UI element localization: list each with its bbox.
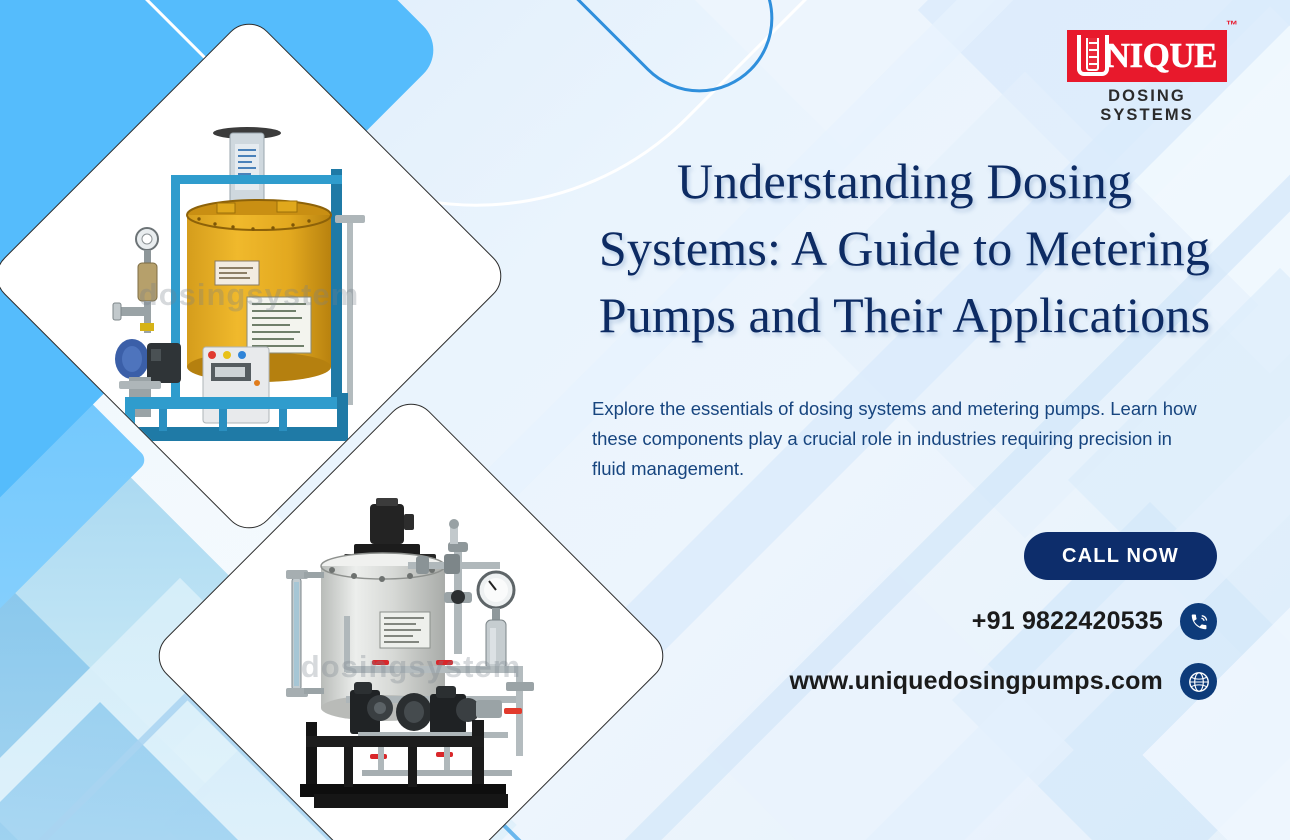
logo-u-beaker-icon xyxy=(1077,35,1109,76)
content-column: Understanding Dosing Systems: A Guide to… xyxy=(592,148,1217,700)
call-now-button[interactable]: CALL NOW xyxy=(1024,532,1217,580)
website-row[interactable]: www.uniquedosingpumps.com xyxy=(592,663,1217,700)
stainless-dosing-skid-illustration xyxy=(258,496,564,816)
globe-icon[interactable] xyxy=(1180,663,1217,700)
cta-row: CALL NOW xyxy=(592,532,1217,580)
banner-canvas: dosingsystem xyxy=(0,0,1290,840)
brand-logo[interactable]: NIQUE ™ DOSING SYSTEMS xyxy=(1067,30,1227,125)
page-subtitle: Explore the essentials of dosing systems… xyxy=(592,394,1200,484)
logo-tagline: DOSING SYSTEMS xyxy=(1067,87,1227,125)
phone-number[interactable]: +91 9822420535 xyxy=(972,607,1163,636)
logo-trademark-symbol: ™ xyxy=(1226,18,1238,32)
phone-row[interactable]: +91 9822420535 xyxy=(592,603,1217,640)
page-title: Understanding Dosing Systems: A Guide to… xyxy=(592,148,1217,349)
graduated-cylinder-icon xyxy=(1086,38,1099,71)
caustic-dosing-tank-illustration xyxy=(99,111,399,441)
logo-mark: NIQUE ™ xyxy=(1067,30,1227,82)
phone-call-icon[interactable] xyxy=(1180,603,1217,640)
website-url[interactable]: www.uniquedosingpumps.com xyxy=(789,667,1163,696)
logo-wordmark: NIQUE xyxy=(1105,35,1217,76)
